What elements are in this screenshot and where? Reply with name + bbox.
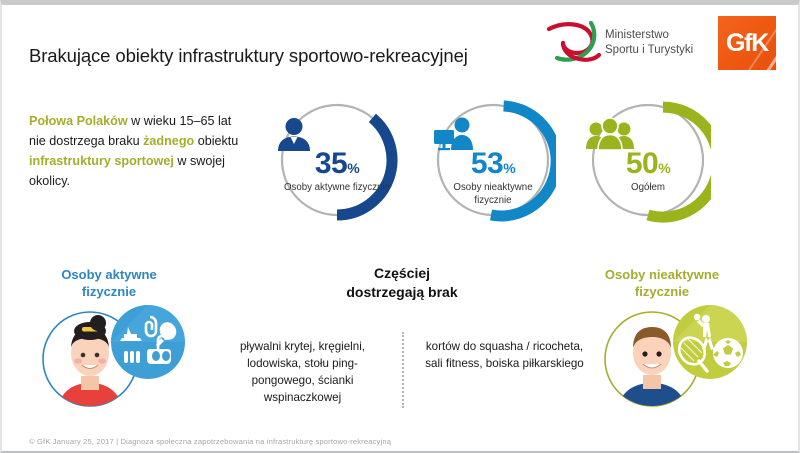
center-heading-line2: dostrzegają brak bbox=[272, 283, 532, 302]
donut-chart-active: 35% Osoby aktywne fizycznie bbox=[274, 97, 400, 223]
donut-overall-value: 50% bbox=[585, 147, 711, 181]
donut-active-caption: Osoby aktywne fizycznie bbox=[278, 181, 396, 194]
page-title: Brakujące obiekty infrastruktury sportow… bbox=[29, 45, 468, 67]
intro-plain-2: obiektu bbox=[194, 134, 238, 148]
donut-overall-caption: Ogółem bbox=[589, 181, 707, 194]
intro-highlight-none: żadnego bbox=[143, 134, 194, 148]
ministry-logo: Ministerstwo Sportu i Turystyki bbox=[547, 19, 707, 69]
ministry-swoosh-icon bbox=[547, 19, 601, 69]
list-active-missing-facilities: pływalni krytej, kręgielni, lodowiska, s… bbox=[220, 338, 385, 406]
intro-statement: Połowa Polaków w wieku 15–65 lat nie dos… bbox=[29, 111, 247, 191]
center-heading: Częściej dostrzegają brak bbox=[272, 264, 532, 302]
intro-highlight-sports-infrastructure: infrastruktury sportowej bbox=[29, 154, 174, 168]
persona-inactive-heading-line1: Osoby nieaktywne bbox=[562, 266, 762, 283]
ministry-name: Ministerstwo Sportu i Turystyki bbox=[605, 28, 693, 58]
gfk-wordmark: GfK bbox=[718, 16, 776, 70]
intro-highlight-half-poles: Połowa Polaków bbox=[29, 114, 128, 128]
persona-inactive-heading-line2: fizycznie bbox=[562, 283, 762, 300]
persona-active-heading-line2: fizycznie bbox=[24, 283, 194, 300]
donut-inactive-value: 53% bbox=[430, 147, 556, 181]
persona-active-heading: Osoby aktywne fizycznie bbox=[24, 266, 194, 300]
list-divider bbox=[402, 332, 404, 408]
list-inactive-missing-facilities: kortów do squasha / ricocheta, sali fitn… bbox=[422, 338, 587, 372]
avatar-inactive-group bbox=[602, 301, 752, 413]
donut-active-value: 35% bbox=[274, 147, 400, 181]
footer-source: © GfK January 25, 2017 | Diagnoza społec… bbox=[29, 437, 391, 446]
donut-chart-inactive: 53% Osoby nieaktywne fizycznie bbox=[430, 97, 556, 223]
ministry-name-line2: Sportu i Turystyki bbox=[605, 43, 693, 58]
ministry-name-line1: Ministerstwo bbox=[605, 28, 693, 43]
persona-active-heading-line1: Osoby aktywne bbox=[24, 266, 194, 283]
gfk-logo: GfK bbox=[718, 16, 776, 70]
avatar-active-group bbox=[40, 301, 190, 413]
persona-inactive-heading: Osoby nieaktywne fizycznie bbox=[562, 266, 762, 300]
infographic-slide: Brakujące obiekty infrastruktury sportow… bbox=[0, 0, 800, 453]
donut-inactive-caption: Osoby nieaktywne fizycznie bbox=[434, 181, 552, 207]
center-heading-line1: Częściej bbox=[272, 264, 532, 283]
donut-chart-overall: 50% Ogółem bbox=[585, 97, 711, 223]
header: Brakujące obiekty infrastruktury sportow… bbox=[2, 5, 798, 85]
